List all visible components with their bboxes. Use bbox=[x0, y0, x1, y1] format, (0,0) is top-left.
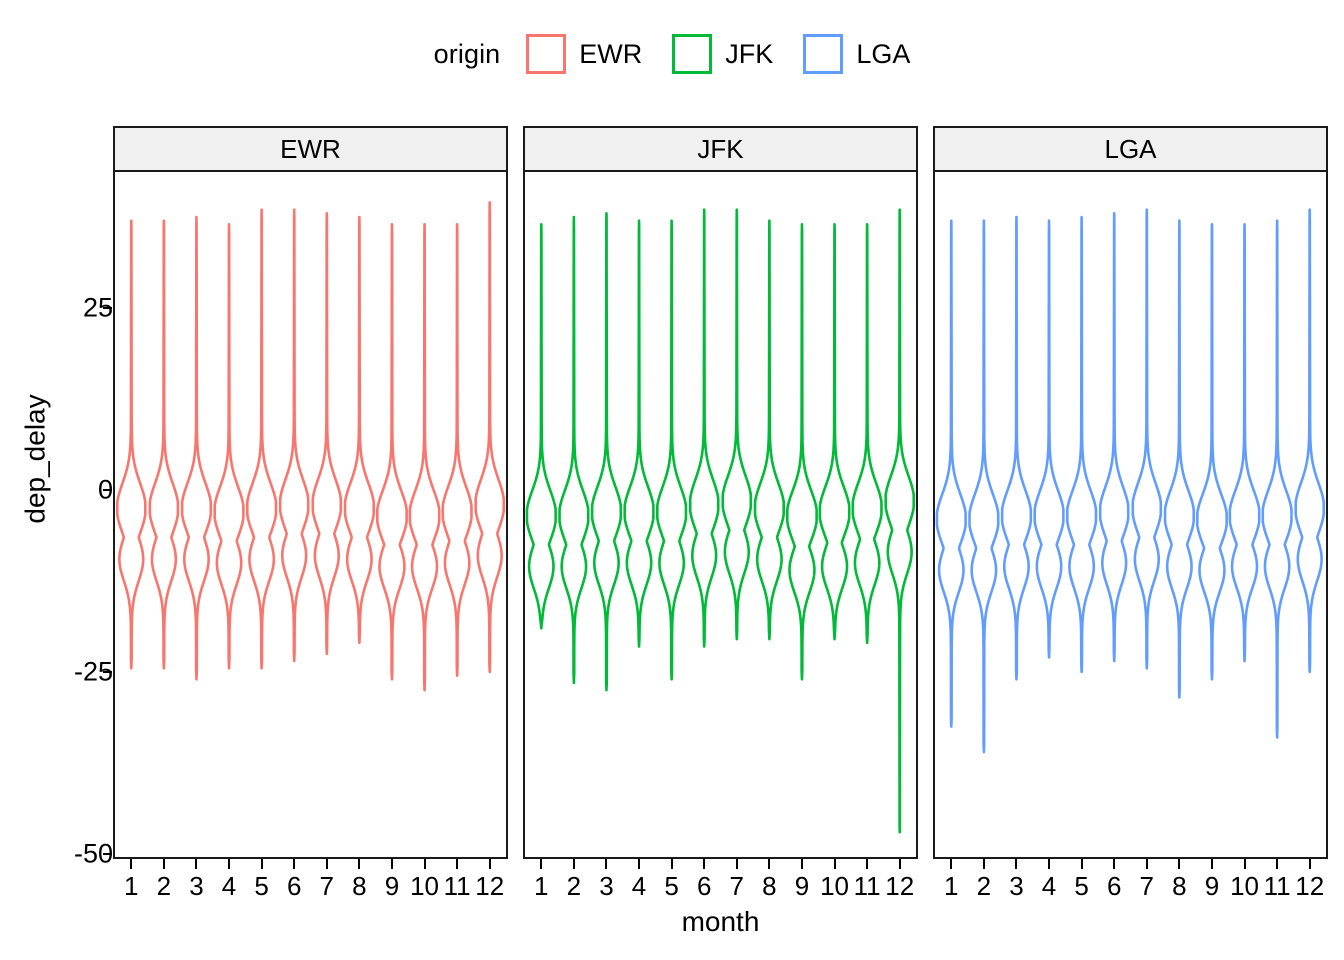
x-tick-label: 9 bbox=[385, 871, 399, 902]
x-tick-mark bbox=[489, 859, 491, 869]
violin-lga-month-9 bbox=[1197, 224, 1226, 679]
x-tick-label: 5 bbox=[664, 871, 678, 902]
x-tick-mark bbox=[1244, 859, 1246, 869]
legend-item-label: EWR bbox=[579, 39, 642, 70]
violin-lga-month-8 bbox=[1165, 221, 1194, 698]
x-tick-label: 9 bbox=[1205, 871, 1219, 902]
violin-ewr-month-1 bbox=[117, 221, 145, 669]
violin-jfk-month-12 bbox=[886, 210, 914, 832]
legend-item-lga[interactable]: LGA bbox=[803, 34, 910, 74]
violin-lga-month-3 bbox=[1002, 217, 1031, 679]
x-tick-mark bbox=[293, 859, 295, 869]
legend-item-jfk[interactable]: JFK bbox=[672, 34, 773, 74]
violin-lga-month-7 bbox=[1133, 210, 1161, 669]
x-tick-mark bbox=[1309, 859, 1311, 869]
x-tick-mark bbox=[391, 859, 393, 869]
x-tick-label: 6 bbox=[1107, 871, 1121, 902]
y-tick-label: -50 bbox=[21, 839, 113, 870]
x-tick-label: 9 bbox=[795, 871, 809, 902]
x-tick-label: 4 bbox=[1042, 871, 1056, 902]
y-axis: 250-25-50 bbox=[0, 0, 113, 960]
violin-jfk-month-9 bbox=[787, 224, 816, 679]
x-tick-label: 7 bbox=[320, 871, 334, 902]
x-tick-mark bbox=[424, 859, 426, 869]
x-tick-mark bbox=[605, 859, 607, 869]
violin-ewr-month-6 bbox=[280, 210, 308, 661]
x-tick-mark bbox=[195, 859, 197, 869]
x-tick-mark bbox=[228, 859, 230, 869]
x-tick-mark bbox=[1113, 859, 1115, 869]
x-tick-mark bbox=[736, 859, 738, 869]
x-tick-mark bbox=[983, 859, 985, 869]
x-tick-label: 4 bbox=[222, 871, 236, 902]
violin-ewr-month-3 bbox=[182, 217, 211, 679]
x-tick-mark bbox=[1015, 859, 1017, 869]
violin-lga-month-11 bbox=[1263, 221, 1292, 738]
x-tick-label: 5 bbox=[254, 871, 268, 902]
facet-strip-label-lga: LGA bbox=[933, 126, 1328, 172]
plot-area-ewr bbox=[113, 172, 508, 859]
x-tick-label: 7 bbox=[730, 871, 744, 902]
legend-title: origin bbox=[434, 39, 501, 70]
violin-ewr-month-11 bbox=[443, 224, 472, 675]
x-axis-title: month bbox=[113, 906, 1328, 938]
violin-lga-month-12 bbox=[1296, 210, 1324, 672]
x-tick-label: 1 bbox=[124, 871, 138, 902]
x-tick-label: 7 bbox=[1140, 871, 1154, 902]
violin-ewr-month-8 bbox=[345, 217, 374, 643]
x-tick-label: 10 bbox=[410, 871, 439, 902]
violin-lga-month-6 bbox=[1100, 213, 1128, 661]
x-tick-mark bbox=[834, 859, 836, 869]
x-axis-jfk: 123456789101112 bbox=[523, 859, 918, 909]
violin-jfk-month-11 bbox=[853, 224, 882, 643]
x-tick-mark bbox=[130, 859, 132, 869]
x-tick-mark bbox=[358, 859, 360, 869]
facet-panel-lga: LGA bbox=[933, 126, 1328, 859]
x-tick-label: 10 bbox=[1230, 871, 1259, 902]
x-tick-mark bbox=[638, 859, 640, 869]
x-tick-label: 12 bbox=[475, 871, 504, 902]
x-tick-mark bbox=[1178, 859, 1180, 869]
x-tick-label: 3 bbox=[189, 871, 203, 902]
x-tick-label: 11 bbox=[444, 871, 471, 902]
x-tick-mark bbox=[261, 859, 263, 869]
x-tick-label: 8 bbox=[762, 871, 776, 902]
violin-ewr-month-12 bbox=[476, 202, 504, 672]
facet-panel-ewr: EWR bbox=[113, 126, 508, 859]
violin-jfk-month-10 bbox=[820, 224, 849, 639]
x-tick-mark bbox=[1146, 859, 1148, 869]
x-tick-label: 2 bbox=[157, 871, 171, 902]
violin-jfk-month-8 bbox=[755, 221, 784, 640]
legend-item-label: LGA bbox=[856, 39, 910, 70]
violin-ewr-month-2 bbox=[150, 221, 178, 669]
x-tick-label: 12 bbox=[1295, 871, 1324, 902]
x-tick-mark bbox=[163, 859, 165, 869]
x-axis-ewr: 123456789101112 bbox=[113, 859, 508, 909]
violin-lga-month-1 bbox=[937, 221, 966, 727]
facet-strip-label-jfk: JFK bbox=[523, 126, 918, 172]
x-tick-mark bbox=[801, 859, 803, 869]
x-tick-label: 4 bbox=[632, 871, 646, 902]
legend-key-icon bbox=[672, 34, 712, 74]
x-tick-label: 12 bbox=[885, 871, 914, 902]
x-tick-mark bbox=[1081, 859, 1083, 869]
x-tick-mark bbox=[456, 859, 458, 869]
facet-panel-jfk: JFK bbox=[523, 126, 918, 859]
x-tick-label: 5 bbox=[1074, 871, 1088, 902]
x-tick-label: 11 bbox=[854, 871, 881, 902]
x-tick-label: 3 bbox=[599, 871, 613, 902]
violin-jfk-month-5 bbox=[657, 221, 686, 680]
y-tick-label: 0 bbox=[21, 475, 113, 506]
violin-lga-month-4 bbox=[1035, 221, 1064, 658]
x-tick-mark bbox=[1211, 859, 1213, 869]
x-tick-label: 10 bbox=[820, 871, 849, 902]
violin-jfk-month-1 bbox=[527, 224, 556, 628]
violin-lga-month-5 bbox=[1067, 217, 1096, 672]
plot-area-lga bbox=[933, 172, 1328, 859]
x-tick-label: 1 bbox=[944, 871, 958, 902]
legend-item-label: JFK bbox=[725, 39, 773, 70]
violin-ewr-month-5 bbox=[247, 210, 276, 669]
violin-lga-month-10 bbox=[1230, 224, 1259, 661]
violin-ewr-month-4 bbox=[215, 224, 244, 668]
x-tick-mark bbox=[1048, 859, 1050, 869]
x-tick-mark bbox=[1276, 859, 1278, 869]
legend-key-icon bbox=[526, 34, 566, 74]
x-tick-mark bbox=[326, 859, 328, 869]
violin-jfk-month-7 bbox=[723, 210, 751, 640]
x-tick-mark bbox=[540, 859, 542, 869]
legend: origin EWRJFKLGA bbox=[0, 26, 1344, 82]
y-tick-label: -25 bbox=[21, 657, 113, 688]
x-tick-label: 2 bbox=[977, 871, 991, 902]
x-tick-mark bbox=[671, 859, 673, 869]
x-tick-mark bbox=[768, 859, 770, 869]
x-tick-label: 6 bbox=[697, 871, 711, 902]
x-tick-label: 8 bbox=[1172, 871, 1186, 902]
violin-ewr-month-10 bbox=[410, 224, 439, 690]
x-tick-mark bbox=[866, 859, 868, 869]
violin-ewr-month-9 bbox=[377, 224, 406, 679]
x-tick-label: 3 bbox=[1009, 871, 1023, 902]
violin-jfk-month-3 bbox=[592, 213, 621, 690]
x-tick-label: 2 bbox=[567, 871, 581, 902]
legend-item-ewr[interactable]: EWR bbox=[526, 34, 642, 74]
violin-jfk-month-4 bbox=[625, 221, 654, 647]
legend-key-icon bbox=[803, 34, 843, 74]
x-tick-label: 1 bbox=[534, 871, 548, 902]
violin-jfk-month-2 bbox=[560, 217, 589, 683]
x-tick-mark bbox=[950, 859, 952, 869]
x-tick-label: 11 bbox=[1264, 871, 1291, 902]
violin-jfk-month-6 bbox=[690, 210, 718, 647]
x-tick-label: 8 bbox=[352, 871, 366, 902]
violin-lga-month-2 bbox=[970, 221, 999, 752]
x-tick-mark bbox=[703, 859, 705, 869]
x-tick-mark bbox=[899, 859, 901, 869]
x-tick-mark bbox=[573, 859, 575, 869]
legend-items: EWRJFKLGA bbox=[526, 34, 910, 74]
violin-ewr-month-7 bbox=[313, 213, 341, 653]
x-tick-label: 6 bbox=[287, 871, 301, 902]
y-tick-label: 25 bbox=[21, 293, 113, 324]
x-axis-lga: 123456789101112 bbox=[933, 859, 1328, 909]
plot-area-jfk bbox=[523, 172, 918, 859]
facet-strip-label-ewr: EWR bbox=[113, 126, 508, 172]
